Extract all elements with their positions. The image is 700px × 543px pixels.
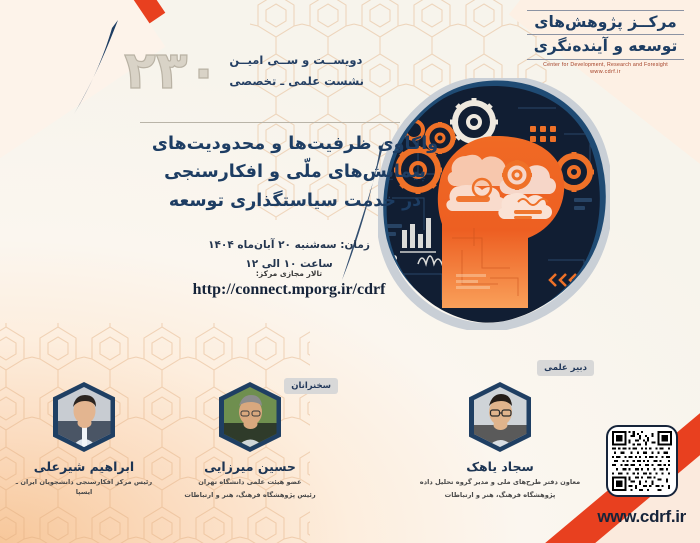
organization-logo: مرکــز پژوهش‌های توسعه و آینده‌نگری Cent… bbox=[523, 8, 688, 75]
venue-label: تالار مجازی مرکز: bbox=[194, 269, 384, 278]
avatar bbox=[53, 382, 115, 452]
qr-code[interactable] bbox=[606, 425, 678, 497]
person-role-line1: رئیس مرکز افکارسنجی دانشجویان ایران ـ ای… bbox=[9, 477, 159, 497]
person-name: حسین میرزایی bbox=[175, 459, 325, 474]
person-role-line2: پژوهشگاه فرهنگ، هنر و ارتباطات bbox=[415, 490, 585, 500]
avatar-photo-mirzaei bbox=[224, 387, 277, 447]
poster-canvas: مرکــز پژوهش‌های توسعه و آینده‌نگری Cent… bbox=[0, 0, 700, 543]
footer-website-url[interactable]: www.cdrf.ir bbox=[597, 507, 686, 527]
page-title: واکاوی ظرفیت‌ها و محدودیت‌های پیمایش‌های… bbox=[140, 130, 450, 215]
avatar-photo-yahak bbox=[474, 387, 527, 447]
person-name: ابراهیم شیرعلی bbox=[9, 459, 159, 474]
avatar-photo-shirali bbox=[58, 387, 111, 447]
session-caption: دویســت و ســی امیــن نشست علمی ـ تخصصی bbox=[229, 50, 364, 93]
navy-swoosh-left bbox=[60, 18, 130, 128]
title-line2: پیمایش‌های ملّی و افکارسنجی bbox=[140, 158, 450, 186]
qr-code-block[interactable] bbox=[606, 425, 678, 497]
logo-title-line1: مرکــز پژوهش‌های bbox=[523, 13, 688, 32]
logo-rule-top bbox=[527, 10, 684, 11]
tag-scientific-secretary: دبیر علمی bbox=[537, 360, 594, 376]
session-caption-line1: دویســت و ســی امیــن bbox=[229, 50, 364, 71]
tag-speakers: سخنرانان bbox=[284, 378, 338, 394]
avatar-hex-border bbox=[53, 382, 115, 452]
avatar-hex-border bbox=[219, 382, 281, 452]
session-caption-line2: نشست علمی ـ تخصصی bbox=[229, 71, 364, 92]
venue-url-link[interactable]: http://connect.mporg.ir/cdrf bbox=[164, 281, 414, 299]
person-card-yahak: سجاد یاهک معاون دفتر طرح‌های ملی و مدیر … bbox=[415, 382, 585, 500]
qr-code-icon bbox=[612, 431, 672, 491]
title-line3: در خدمت سیاستگذاری توسعه bbox=[140, 187, 450, 215]
logo-rule-bottom bbox=[527, 59, 684, 60]
avatar bbox=[219, 382, 281, 452]
avatar bbox=[469, 382, 531, 452]
person-card-mirzaei: حسین میرزایی عضو هیئت علمی دانشگاه تهران… bbox=[175, 382, 325, 500]
person-role-line1: معاون دفتر طرح‌های ملی و مدیر گروه تحلیل… bbox=[415, 477, 585, 487]
person-role-line1: عضو هیئت علمی دانشگاه تهران bbox=[175, 477, 325, 487]
logo-rule-mid bbox=[527, 34, 684, 35]
session-number-block: دویســت و ســی امیــن نشست علمی ـ تخصصی … bbox=[124, 48, 364, 95]
title-divider bbox=[140, 122, 400, 123]
title-line1: واکاوی ظرفیت‌ها و محدودیت‌های bbox=[140, 130, 450, 158]
logo-website: www.cdrf.ir bbox=[523, 69, 688, 75]
person-role-line2: رئیس پژوهشگاه فرهنگ، هنر و ارتباطات bbox=[175, 490, 325, 500]
session-number: ۲۳۰ bbox=[124, 48, 219, 95]
person-card-shirali: ابراهیم شیرعلی رئیس مرکز افکارسنجی دانشج… bbox=[9, 382, 159, 500]
avatar-hex-border bbox=[469, 382, 531, 452]
event-date: زمان: سه‌شنبه ۲۰ آبان‌ماه ۱۴۰۴ bbox=[194, 236, 384, 255]
person-name: سجاد یاهک bbox=[415, 459, 585, 474]
logo-title-line2: توسعه و آینده‌نگری bbox=[523, 37, 688, 56]
logo-english-subtitle: Center for Development, Research and For… bbox=[523, 62, 688, 68]
